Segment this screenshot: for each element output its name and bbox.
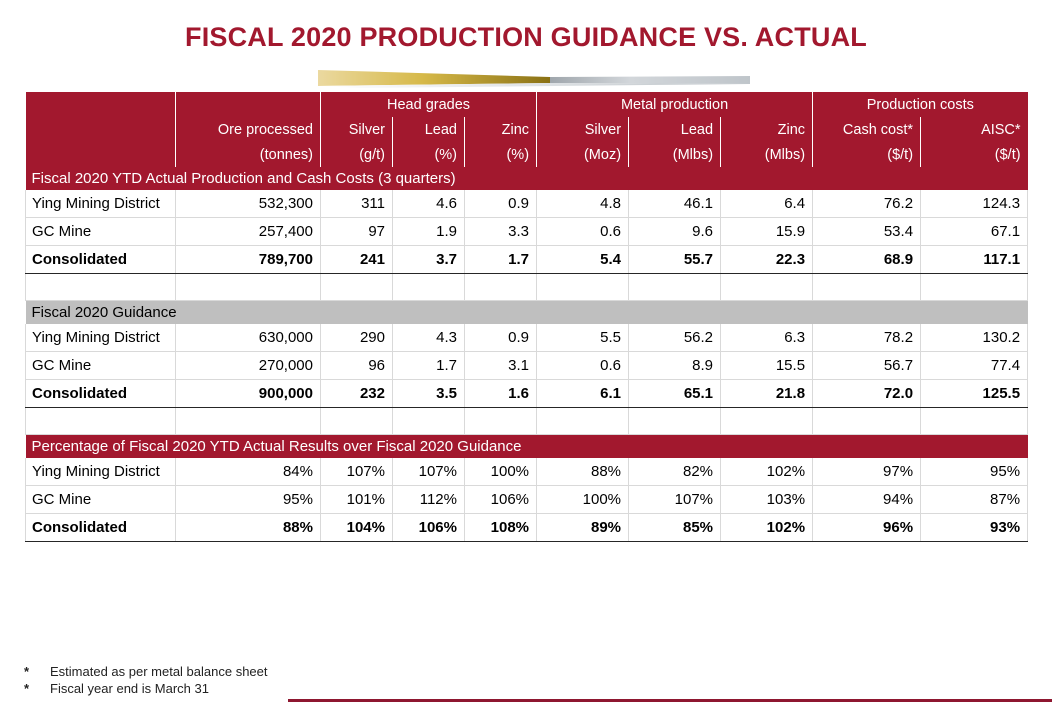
table-section-banner-row: Fiscal 2020 YTD Actual Production and Ca… [26, 167, 1028, 190]
row-value: 3.3 [465, 218, 537, 246]
spacer-cell [813, 408, 921, 435]
row-value: 46.1 [629, 190, 721, 218]
row-value: 95% [176, 486, 321, 514]
footnote-marker: * [24, 680, 50, 697]
page-title: FISCAL 2020 PRODUCTION GUIDANCE VS. ACTU… [0, 22, 1052, 53]
row-value: 68.9 [813, 246, 921, 274]
col-unit-ore-processed: (tonnes) [176, 142, 321, 167]
row-value: 97 [321, 218, 393, 246]
table-row: GC Mine257,400971.93.30.69.615.953.467.1 [26, 218, 1028, 246]
row-value: 67.1 [921, 218, 1028, 246]
footnote-text: Estimated as per metal balance sheet [50, 664, 268, 679]
row-value: 97% [813, 458, 921, 486]
col-unit-metal-zinc: (Mlbs) [721, 142, 813, 167]
row-label: GC Mine [26, 486, 176, 514]
row-value: 257,400 [176, 218, 321, 246]
row-value: 232 [321, 380, 393, 408]
row-value: 96 [321, 352, 393, 380]
row-value: 117.1 [921, 246, 1028, 274]
row-value: 82% [629, 458, 721, 486]
row-value: 21.8 [721, 380, 813, 408]
row-value: 0.9 [465, 190, 537, 218]
spacer-cell [465, 274, 537, 301]
spacer-cell [321, 408, 393, 435]
group-header-production-costs: Production costs [813, 92, 1028, 117]
col-name-head-grade-silver: Silver [321, 117, 393, 142]
spacer-cell [921, 408, 1028, 435]
col-name-head-grade-lead: Lead [393, 117, 465, 142]
decorative-swoosh [300, 64, 750, 90]
table-body: Fiscal 2020 YTD Actual Production and Ca… [26, 167, 1028, 542]
table-column-unit-row: (tonnes) (g/t) (%) (%) (Moz) (Mlbs) (Mlb… [26, 142, 1028, 167]
table-group-header-row: Head grades Metal production Production … [26, 92, 1028, 117]
row-value: 9.6 [629, 218, 721, 246]
group-header-corner [26, 92, 176, 117]
row-value: 0.9 [465, 324, 537, 352]
table-row: Consolidated900,0002323.51.66.165.121.87… [26, 380, 1028, 408]
table-column-name-row: Ore processed Silver Lead Zinc Silver Le… [26, 117, 1028, 142]
row-value: 1.7 [465, 246, 537, 274]
spacer-cell [537, 274, 629, 301]
col-unit-head-grade-zinc: (%) [465, 142, 537, 167]
row-value: 6.1 [537, 380, 629, 408]
bottom-accent-rule [288, 699, 1052, 702]
row-value: 3.7 [393, 246, 465, 274]
table-row: Ying Mining District84%107%107%100%88%82… [26, 458, 1028, 486]
row-value: 108% [465, 514, 537, 542]
group-header-spacer [176, 92, 321, 117]
spacer-cell [721, 274, 813, 301]
row-value: 4.3 [393, 324, 465, 352]
table-spacer-row [26, 274, 1028, 301]
row-value: 6.3 [721, 324, 813, 352]
spacer-cell [26, 408, 176, 435]
row-value: 112% [393, 486, 465, 514]
row-value: 94% [813, 486, 921, 514]
row-label: Ying Mining District [26, 190, 176, 218]
spacer-cell [629, 274, 721, 301]
swoosh-graphic [300, 64, 750, 90]
col-name-metal-zinc: Zinc [721, 117, 813, 142]
row-value: 22.3 [721, 246, 813, 274]
row-value: 93% [921, 514, 1028, 542]
row-label: Consolidated [26, 514, 176, 542]
row-value: 89% [537, 514, 629, 542]
row-value: 1.9 [393, 218, 465, 246]
spacer-cell [921, 274, 1028, 301]
row-label: Ying Mining District [26, 324, 176, 352]
row-value: 241 [321, 246, 393, 274]
row-value: 532,300 [176, 190, 321, 218]
row-label: GC Mine [26, 218, 176, 246]
row-value: 5.5 [537, 324, 629, 352]
table-section-banner-row: Fiscal 2020 Guidance [26, 301, 1028, 325]
row-value: 107% [393, 458, 465, 486]
table-spacer-row [26, 408, 1028, 435]
row-value: 4.8 [537, 190, 629, 218]
row-value: 8.9 [629, 352, 721, 380]
col-unit-metal-lead: (Mlbs) [629, 142, 721, 167]
footnote-marker: * [24, 663, 50, 680]
row-value: 96% [813, 514, 921, 542]
col-name-metal-silver: Silver [537, 117, 629, 142]
row-value: 107% [629, 486, 721, 514]
col-unit-aisc: ($/t) [921, 142, 1028, 167]
spacer-cell [537, 408, 629, 435]
col-name-aisc: AISC* [921, 117, 1028, 142]
col-name-metal-lead: Lead [629, 117, 721, 142]
row-label: Consolidated [26, 246, 176, 274]
row-value: 101% [321, 486, 393, 514]
row-value: 6.4 [721, 190, 813, 218]
row-value: 106% [465, 486, 537, 514]
row-value: 0.6 [537, 218, 629, 246]
row-value: 56.2 [629, 324, 721, 352]
row-value: 100% [537, 486, 629, 514]
row-value: 88% [537, 458, 629, 486]
row-value: 15.9 [721, 218, 813, 246]
spacer-cell [393, 274, 465, 301]
col-unit-cash-cost: ($/t) [813, 142, 921, 167]
col-name-blank [26, 117, 176, 142]
row-value: 124.3 [921, 190, 1028, 218]
spacer-cell [176, 408, 321, 435]
row-value: 102% [721, 514, 813, 542]
row-value: 95% [921, 458, 1028, 486]
row-value: 1.6 [465, 380, 537, 408]
production-guidance-table: Head grades Metal production Production … [25, 92, 1028, 542]
col-name-cash-cost: Cash cost* [813, 117, 921, 142]
spacer-cell [176, 274, 321, 301]
row-value: 53.4 [813, 218, 921, 246]
table-row: GC Mine270,000961.73.10.68.915.556.777.4 [26, 352, 1028, 380]
row-value: 290 [321, 324, 393, 352]
row-value: 88% [176, 514, 321, 542]
row-value: 106% [393, 514, 465, 542]
table-row: Ying Mining District630,0002904.30.95.55… [26, 324, 1028, 352]
row-value: 103% [721, 486, 813, 514]
row-value: 65.1 [629, 380, 721, 408]
spacer-cell [721, 408, 813, 435]
row-value: 900,000 [176, 380, 321, 408]
row-value: 102% [721, 458, 813, 486]
row-value: 311 [321, 190, 393, 218]
row-value: 270,000 [176, 352, 321, 380]
row-value: 4.6 [393, 190, 465, 218]
footnote-item: *Fiscal year end is March 31 [24, 680, 268, 697]
row-value: 789,700 [176, 246, 321, 274]
col-unit-head-grade-silver: (g/t) [321, 142, 393, 167]
col-unit-metal-silver: (Moz) [537, 142, 629, 167]
table-row: GC Mine95%101%112%106%100%107%103%94%87% [26, 486, 1028, 514]
group-header-head-grades: Head grades [321, 92, 537, 117]
spacer-cell [321, 274, 393, 301]
row-label: Consolidated [26, 380, 176, 408]
col-name-head-grade-zinc: Zinc [465, 117, 537, 142]
row-value: 630,000 [176, 324, 321, 352]
footnote-item: *Estimated as per metal balance sheet [24, 663, 268, 680]
row-value: 3.1 [465, 352, 537, 380]
row-value: 85% [629, 514, 721, 542]
row-value: 84% [176, 458, 321, 486]
row-label: GC Mine [26, 352, 176, 380]
section-banner: Fiscal 2020 Guidance [26, 301, 1028, 325]
table-row: Ying Mining District532,3003114.60.94.84… [26, 190, 1028, 218]
row-value: 107% [321, 458, 393, 486]
table-row: Consolidated88%104%106%108%89%85%102%96%… [26, 514, 1028, 542]
row-value: 5.4 [537, 246, 629, 274]
group-header-metal-production: Metal production [537, 92, 813, 117]
row-value: 72.0 [813, 380, 921, 408]
row-label: Ying Mining District [26, 458, 176, 486]
row-value: 78.2 [813, 324, 921, 352]
col-unit-head-grade-lead: (%) [393, 142, 465, 167]
section-banner: Fiscal 2020 YTD Actual Production and Ca… [26, 167, 1028, 190]
row-value: 104% [321, 514, 393, 542]
spacer-cell [465, 408, 537, 435]
row-value: 15.5 [721, 352, 813, 380]
section-banner: Percentage of Fiscal 2020 YTD Actual Res… [26, 435, 1028, 459]
row-value: 100% [465, 458, 537, 486]
table-section-banner-row: Percentage of Fiscal 2020 YTD Actual Res… [26, 435, 1028, 459]
row-value: 1.7 [393, 352, 465, 380]
row-value: 125.5 [921, 380, 1028, 408]
row-value: 87% [921, 486, 1028, 514]
spacer-cell [629, 408, 721, 435]
spacer-cell [813, 274, 921, 301]
table-row: Consolidated789,7002413.71.75.455.722.36… [26, 246, 1028, 274]
footnote-text: Fiscal year end is March 31 [50, 681, 209, 696]
row-value: 56.7 [813, 352, 921, 380]
row-value: 55.7 [629, 246, 721, 274]
row-value: 76.2 [813, 190, 921, 218]
col-name-ore-processed: Ore processed [176, 117, 321, 142]
footnotes: *Estimated as per metal balance sheet *F… [24, 663, 268, 697]
spacer-cell [393, 408, 465, 435]
spacer-cell [26, 274, 176, 301]
row-value: 0.6 [537, 352, 629, 380]
row-value: 3.5 [393, 380, 465, 408]
row-value: 130.2 [921, 324, 1028, 352]
col-unit-blank [26, 142, 176, 167]
row-value: 77.4 [921, 352, 1028, 380]
